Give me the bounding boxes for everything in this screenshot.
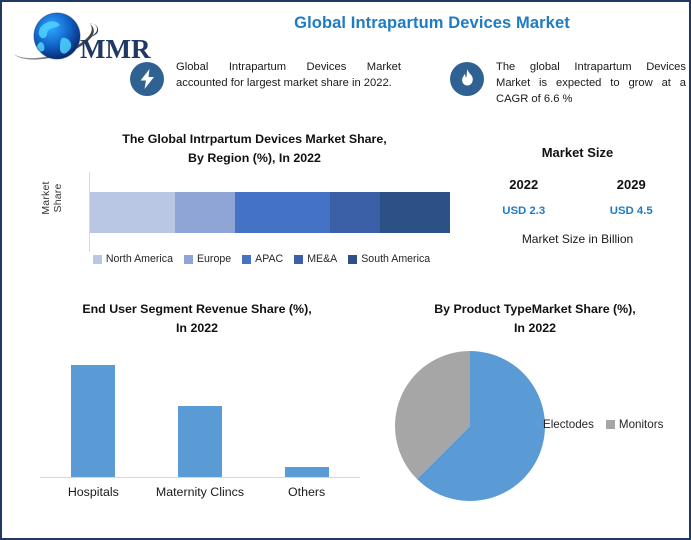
region-legend-item[interactable]: North America [93, 253, 173, 265]
region-chart-plot: Market Share [42, 172, 467, 252]
pie-svg [394, 350, 546, 502]
region-legend-item[interactable]: ME&A [294, 253, 337, 265]
market-size-value-2029: USD 4.5 [584, 205, 679, 217]
market-size-values: USD 2.3 USD 4.5 [470, 205, 685, 217]
end-user-chart-baseline [40, 477, 360, 478]
end-user-chart-title-line1: End User Segment Revenue Share (%), [22, 300, 372, 319]
region-legend-label: ME&A [307, 253, 337, 265]
region-legend-label: Europe [197, 253, 231, 265]
highlight-text-market-share: Global Intrapartum Devices Market accoun… [176, 60, 401, 92]
product-type-legend-label: Monitors [619, 418, 663, 431]
region-segment-me-a [330, 192, 380, 233]
product-type-legend-item[interactable]: Monitors [606, 418, 663, 431]
product-type-legend-item[interactable]: Electodes [530, 418, 594, 431]
market-size-year-2022: 2022 [476, 177, 571, 192]
region-chart-legend: North AmericaEuropeAPACME&ASouth America [56, 253, 467, 265]
region-chart-title: The Global Intrpartum Devices Market Sha… [42, 128, 467, 167]
region-legend-item[interactable]: South America [348, 253, 430, 265]
region-chart-title-line2: By Region (%), In 2022 [42, 149, 467, 168]
end-user-bar-maternity-clincs [178, 406, 222, 477]
product-type-chart: By Product TypeMarket Share (%), In 2022… [382, 300, 682, 528]
lightning-bolt-glyph [139, 69, 156, 89]
end-user-bar-others [285, 467, 329, 477]
legend-swatch-icon [184, 255, 193, 264]
legend-swatch-icon [242, 255, 251, 264]
legend-swatch-icon [93, 255, 102, 264]
highlight-box-cagr: The global Intrapartum Devices Market is… [450, 60, 686, 108]
product-type-chart-title: By Product TypeMarket Share (%), In 2022 [382, 300, 682, 338]
region-legend-label: South America [361, 253, 430, 265]
end-user-category-label: Maternity Clincs [147, 485, 254, 499]
end-user-chart-plot [40, 348, 360, 478]
market-size-value-2022: USD 2.3 [476, 205, 571, 217]
end-user-bar-hospitals [71, 365, 115, 477]
legend-swatch-icon [530, 420, 539, 429]
highlight-box-market-share: Global Intrapartum Devices Market accoun… [130, 60, 405, 96]
legend-swatch-icon [294, 255, 303, 264]
region-legend-label: APAC [255, 253, 283, 265]
region-legend-item[interactable]: Europe [184, 253, 231, 265]
product-type-pie-graphic [394, 350, 546, 502]
region-chart-title-line1: The Global Intrpartum Devices Market Sha… [42, 130, 467, 149]
region-segment-south-america [380, 192, 450, 233]
region-segment-apac [235, 192, 330, 233]
region-segment-north-america [90, 192, 175, 233]
market-size-panel: Market Size 2022 2029 USD 2.3 USD 4.5 Ma… [470, 145, 685, 265]
end-user-chart: End User Segment Revenue Share (%), In 2… [22, 300, 372, 525]
page-title: Global Intrapartum Devices Market [182, 14, 682, 33]
end-user-category-label: Hospitals [40, 485, 147, 499]
region-stacked-bar [90, 192, 450, 233]
flame-glyph [460, 69, 475, 89]
product-type-chart-title-line2: In 2022 [388, 319, 682, 338]
end-user-chart-category-labels: HospitalsMaternity ClincsOthers [40, 485, 360, 499]
region-legend-item[interactable]: APAC [242, 253, 283, 265]
end-user-chart-title-line2: In 2022 [22, 319, 372, 338]
infographic-page: MMR Global Intrapartum Devices Market Gl… [0, 0, 691, 540]
legend-swatch-icon [606, 420, 615, 429]
region-chart-y-axis-label: Market Share [40, 170, 64, 226]
lightning-bolt-icon [130, 62, 164, 96]
flame-icon [450, 62, 484, 96]
highlight-text-cagr: The global Intrapartum Devices Market is… [496, 60, 686, 108]
market-size-caption: Market Size in Billion [470, 232, 685, 246]
end-user-category-label: Others [253, 485, 360, 499]
market-size-heading: Market Size [470, 145, 685, 160]
product-type-chart-title-line1: By Product TypeMarket Share (%), [388, 300, 682, 319]
market-size-years: 2022 2029 [470, 177, 685, 192]
region-legend-label: North America [106, 253, 173, 265]
product-type-chart-legend: ElectodesMonitors [530, 418, 663, 431]
legend-swatch-icon [348, 255, 357, 264]
region-share-chart: The Global Intrpartum Devices Market Sha… [42, 128, 467, 276]
product-type-legend-label: Electodes [543, 418, 594, 431]
end-user-chart-title: End User Segment Revenue Share (%), In 2… [22, 300, 372, 338]
region-segment-europe [175, 192, 235, 233]
market-size-year-2029: 2029 [584, 177, 679, 192]
